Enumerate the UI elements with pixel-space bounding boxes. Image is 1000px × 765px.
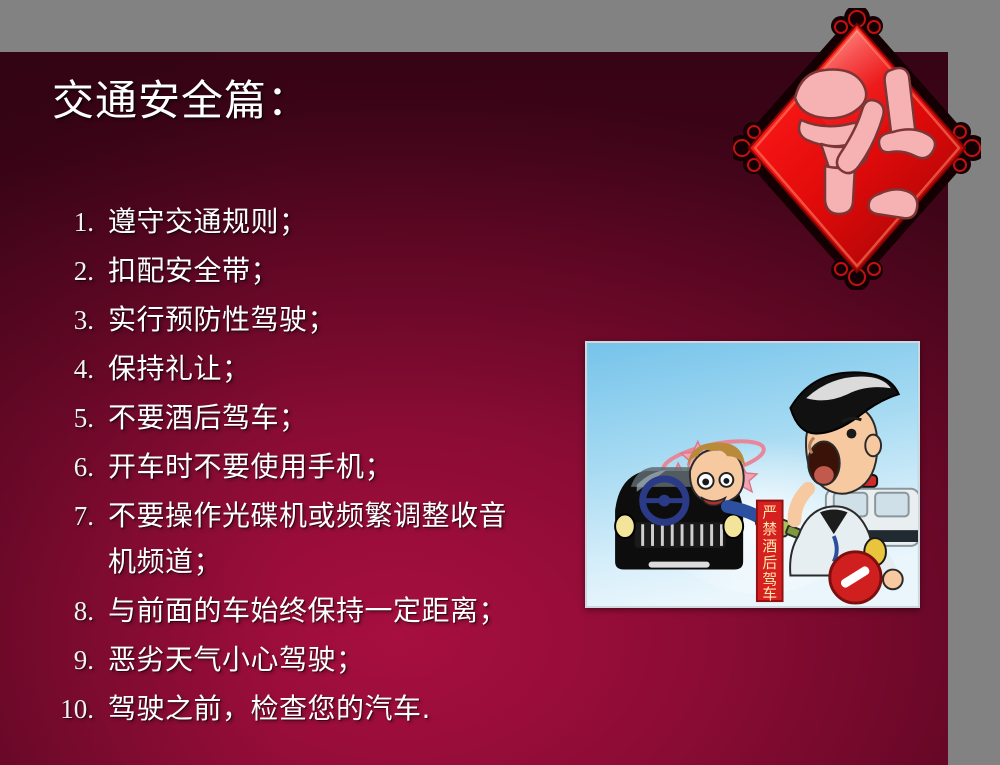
- list-item-text: 实行预防性驾驶；: [108, 297, 586, 343]
- list-item: 5. 不要酒后驾车；: [56, 395, 586, 441]
- list-item-text: 不要操作光碟机或频繁调整收音 机频道；: [108, 493, 586, 585]
- list-item-number: 9.: [56, 637, 108, 683]
- screenshot-stage: 交通安全篇： 1. 遵守交通规则； 2. 扣配安全带； 3. 实行预防性驾驶； …: [0, 0, 1000, 765]
- list-item-text: 恶劣天气小心驾驶；: [108, 637, 586, 683]
- list-item-number: 7.: [56, 493, 108, 539]
- list-item-number: 10.: [56, 686, 108, 732]
- list-item-number: 3.: [56, 297, 108, 343]
- svg-text:酒: 酒: [762, 538, 777, 555]
- page-title: 交通安全篇：: [52, 78, 310, 124]
- list-item: 3. 实行预防性驾驶；: [56, 297, 586, 343]
- list-item: 9. 恶劣天气小心驾驶；: [56, 637, 586, 683]
- list-item-text: 驾驶之前，检查您的汽车.: [108, 686, 586, 732]
- drunk-driving-cartoon-image: 严 禁 酒 后 驾 车: [585, 341, 920, 608]
- list-item-text-line2: 机频道；: [108, 539, 586, 585]
- list-item: 1. 遵守交通规则；: [56, 199, 586, 245]
- list-item: 6. 开车时不要使用手机；: [56, 444, 586, 490]
- svg-text:禁: 禁: [762, 521, 777, 538]
- svg-text:严: 严: [762, 504, 777, 521]
- list-item-number: 5.: [56, 395, 108, 441]
- list-item-number: 4.: [56, 346, 108, 392]
- list-item: 7. 不要操作光碟机或频繁调整收音 机频道；: [56, 493, 586, 585]
- list-item-text-line1: 不要操作光碟机或频繁调整收音: [108, 493, 586, 539]
- list-item-text: 不要酒后驾车；: [108, 395, 586, 441]
- list-item-number: 1.: [56, 199, 108, 245]
- list-item: 4. 保持礼让；: [56, 346, 586, 392]
- list-item-text: 扣配安全带；: [108, 248, 586, 294]
- svg-text:后: 后: [762, 555, 777, 572]
- list-item: 2. 扣配安全带；: [56, 248, 586, 294]
- safety-rules-list: 1. 遵守交通规则； 2. 扣配安全带； 3. 实行预防性驾驶； 4. 保持礼让…: [56, 199, 586, 735]
- list-item-text: 开车时不要使用手机；: [108, 444, 586, 490]
- list-item-number: 8.: [56, 588, 108, 634]
- svg-text:车: 车: [762, 586, 777, 603]
- list-item-number: 6.: [56, 444, 108, 490]
- no-drunk-driving-banner: 严 禁 酒 后 驾 车: [757, 501, 783, 604]
- list-item-text: 保持礼让；: [108, 346, 586, 392]
- list-item-text: 遵守交通规则；: [108, 199, 586, 245]
- list-item-number: 2.: [56, 248, 108, 294]
- no-entry-sign-icon: [830, 552, 881, 603]
- list-item: 8. 与前面的车始终保持一定距离；: [56, 588, 586, 634]
- list-item-text: 与前面的车始终保持一定距离；: [108, 588, 586, 634]
- list-item: 10. 驾驶之前，检查您的汽车.: [56, 686, 586, 732]
- chinese-new-year-diamond-ornament: [733, 8, 981, 290]
